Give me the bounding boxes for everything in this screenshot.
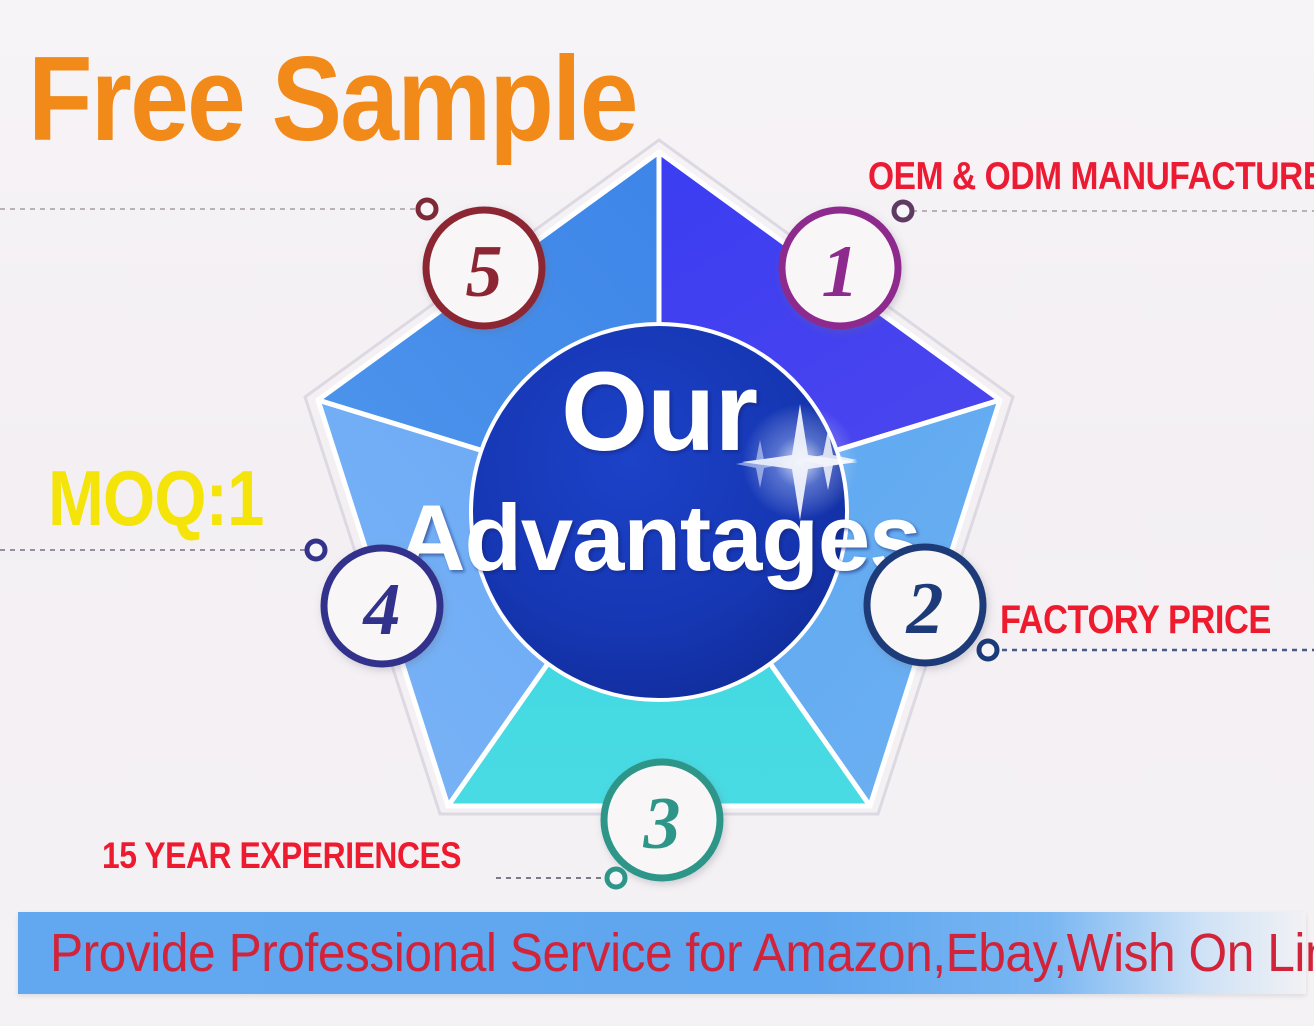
center-title-line2: Advantages [398, 485, 921, 590]
label-15-year-experiences: 15 YEAR EXPERIENCES [102, 836, 461, 876]
badge-2[interactable]: 2 [867, 547, 983, 663]
badge-1-endpoint-marker [894, 202, 912, 220]
label-oem-odm-manufacturer: OEM & ODM MANUFACTURER [868, 156, 1314, 198]
badge-1[interactable]: 1 [782, 210, 898, 326]
label-moq: MOQ:1 [48, 458, 264, 538]
badge-5-endpoint-marker [418, 200, 436, 218]
infographic-canvas: Our Advantages 1 2 3 4 5 [0, 0, 1314, 1026]
banner-text: Provide Professional Service for Amazon,… [50, 922, 1314, 984]
badge-3-number: 3 [643, 783, 681, 865]
badge-3-endpoint-marker [607, 869, 625, 887]
badge-2-number: 2 [906, 568, 944, 650]
badge-3[interactable]: 3 [604, 762, 720, 878]
center-title-line1: Our [561, 349, 757, 474]
bottom-banner: Provide Professional Service for Amazon,… [18, 912, 1306, 994]
badge-4[interactable]: 4 [324, 548, 440, 664]
badge-5[interactable]: 5 [426, 210, 542, 326]
badge-4-number: 4 [362, 569, 401, 651]
badge-1-number: 1 [822, 231, 859, 313]
label-factory-price: FACTORY PRICE [1000, 598, 1271, 642]
badge-2-endpoint-marker [979, 641, 997, 659]
label-free-sample: Free Sample [28, 44, 637, 154]
badge-4-endpoint-marker [307, 541, 325, 559]
badge-5-number: 5 [466, 231, 503, 313]
